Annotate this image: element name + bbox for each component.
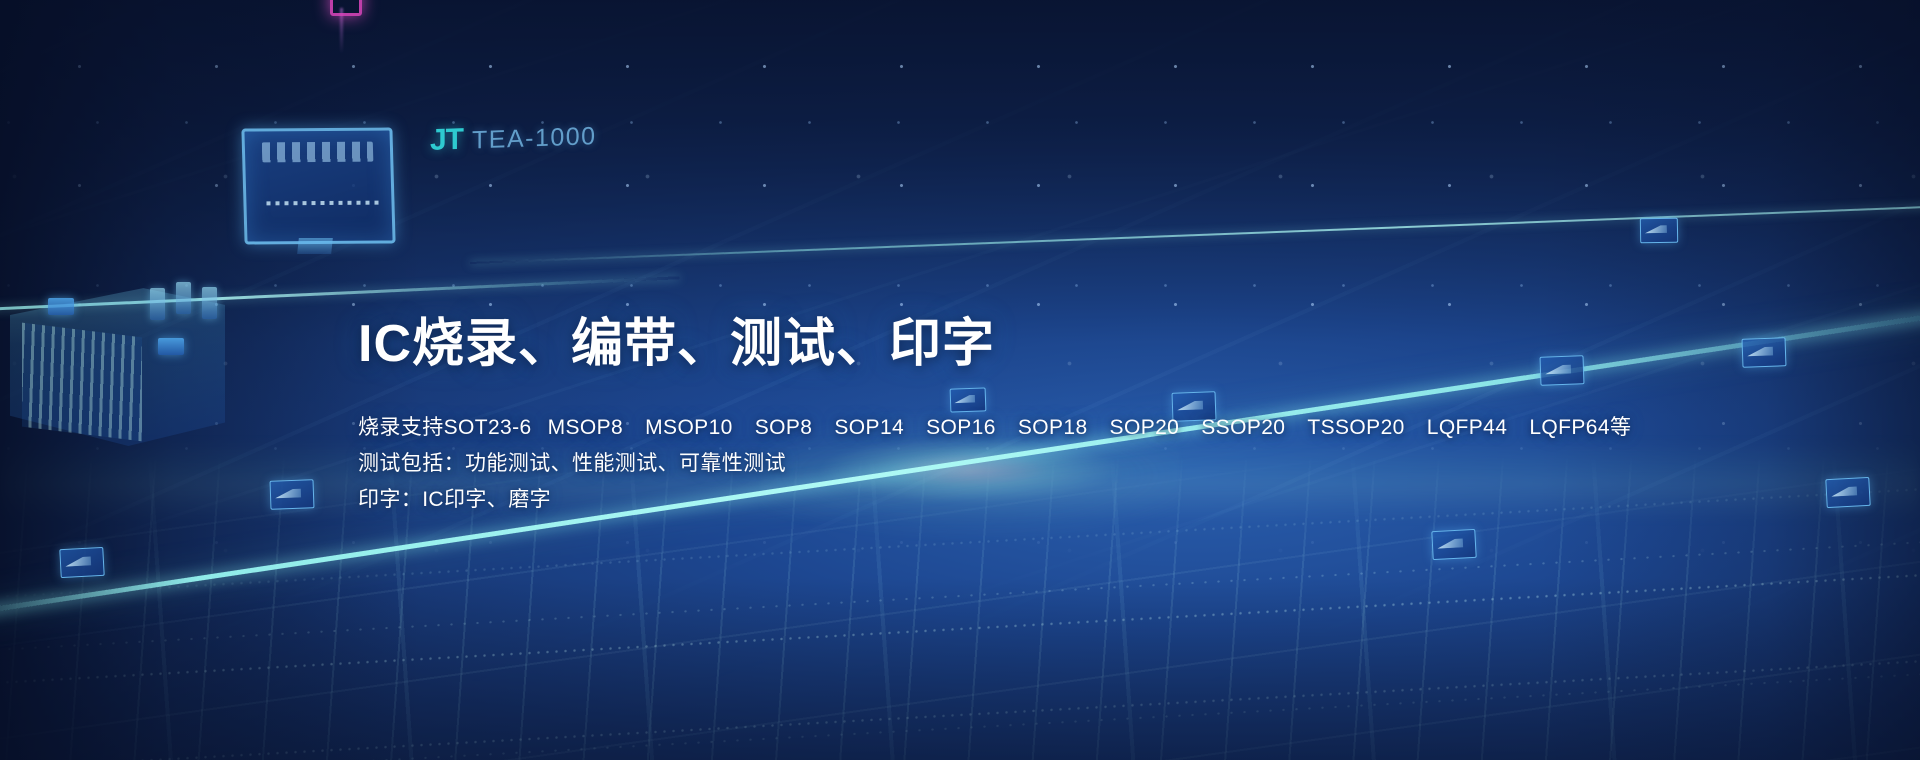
floating-screen-icon (59, 547, 104, 578)
package-item: SOP14 (834, 410, 904, 446)
machine-cylinder-icon (202, 287, 217, 319)
package-item: SOP18 (1018, 410, 1088, 446)
package-item: LQFP64等 (1529, 410, 1631, 446)
machine-fins-graphic (22, 323, 142, 442)
testing-scope-line: 测试包括：功能测试、性能测试、可靠性测试 (358, 446, 1598, 482)
package-item: SOP8 (755, 410, 813, 446)
hero-copy-block: IC烧录、编带、测试、印字 烧录支持SOT23-6 MSOP8 MSOP10 S… (358, 312, 1598, 518)
package-item: MSOP10 (645, 410, 733, 446)
packages-lead-label: 烧录支持SOT23-6 (358, 410, 532, 446)
floating-screen-icon (1742, 337, 1787, 368)
machine-cylinder-icon (150, 288, 165, 320)
hero-banner: JT TEA-1000 IC烧录、编带、测试、印字 烧录支持SOT23-6 MS… (0, 0, 1920, 760)
marking-scope-line: 印字：IC印字、磨字 (358, 482, 1598, 518)
monitor-screen-rows (262, 142, 373, 163)
equipment-brand-text: JT (430, 123, 463, 158)
floating-screen-icon (1431, 529, 1476, 560)
equipment-nameplate: JT TEA-1000 (430, 118, 597, 158)
floating-screen-icon (1825, 477, 1870, 508)
package-item: SOP20 (1110, 410, 1180, 446)
package-item: TSSOP20 (1307, 410, 1404, 446)
machine-module-icon (158, 338, 184, 355)
package-item: LQFP44 (1427, 410, 1508, 446)
floating-screen-icon (1640, 218, 1678, 244)
package-item: SOP16 (926, 410, 996, 446)
monitor-stand-graphic (297, 238, 333, 254)
package-item: MSOP8 (548, 410, 624, 446)
machine-cylinder-icon (176, 282, 191, 314)
pink-marker-icon (330, 0, 362, 16)
hero-subtitle-list: 烧录支持SOT23-6 MSOP8 MSOP10 SOP8 SOP14 SOP1… (358, 410, 1598, 518)
control-monitor-graphic (241, 127, 395, 244)
page-title: IC烧录、编带、测试、印字 (358, 312, 1598, 376)
supported-packages-line: 烧录支持SOT23-6 MSOP8 MSOP10 SOP8 SOP14 SOP1… (358, 410, 1598, 446)
upper-light-rail (470, 205, 1920, 264)
package-item: SSOP20 (1201, 410, 1285, 446)
equipment-model-text: TEA-1000 (472, 122, 597, 155)
floating-screen-icon (270, 479, 315, 510)
machine-module-icon (48, 298, 74, 315)
